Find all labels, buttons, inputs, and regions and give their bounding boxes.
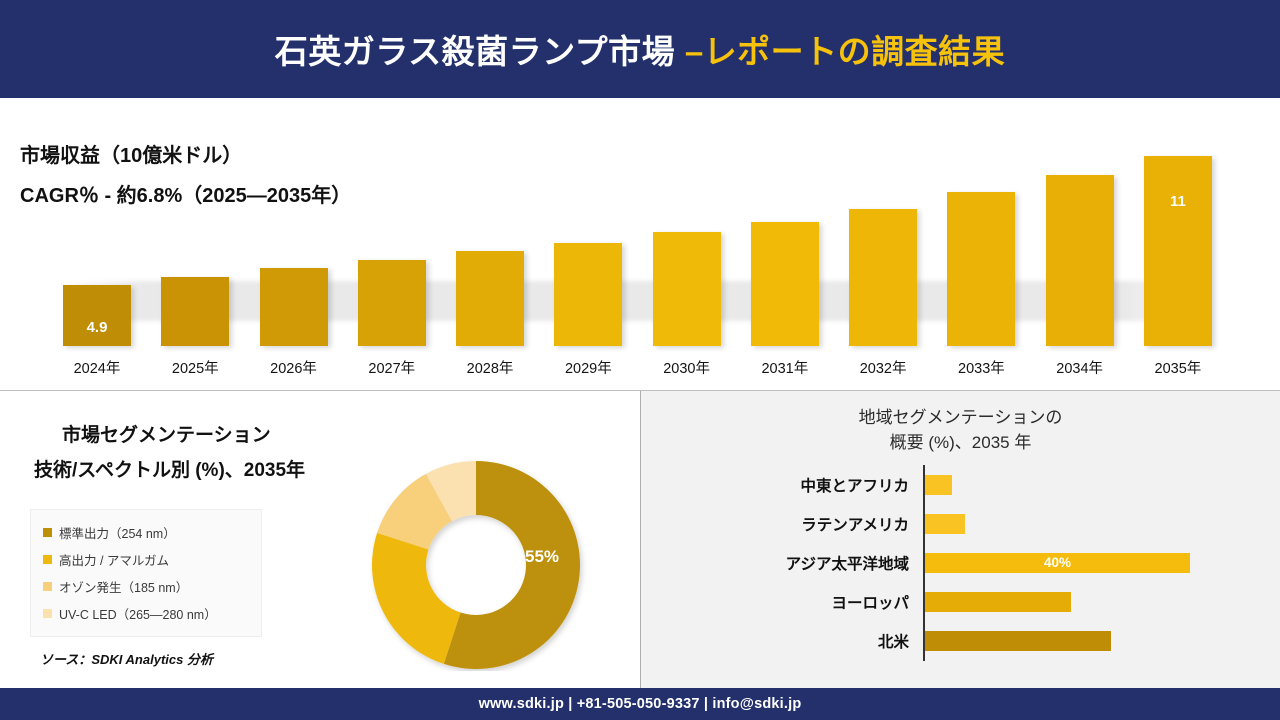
bar-category-label: 2027年 bbox=[368, 357, 415, 378]
legend-swatch bbox=[43, 609, 52, 618]
bar-category-label: 2032年 bbox=[860, 357, 907, 378]
bar-category-label: 2024年 bbox=[74, 357, 121, 378]
bar: 4.9 bbox=[63, 285, 131, 346]
legend-swatch bbox=[43, 528, 52, 537]
regional-panel: 地域セグメンテーションの 概要 (%)、2035 年 中東とアフリカラテンアメリ… bbox=[641, 391, 1280, 688]
bar bbox=[1046, 175, 1114, 346]
bar bbox=[653, 232, 721, 346]
bar-column: 2028年 bbox=[448, 251, 532, 378]
bar-column: 2027年 bbox=[350, 260, 434, 378]
bar-column: 2025年 bbox=[153, 277, 237, 378]
bar-category-label: 2035年 bbox=[1155, 357, 1202, 378]
legend-item: 標準出力（254 nm） bbox=[43, 519, 251, 546]
segmentation-title: 市場セグメンテーション 技術/スペクトル別 (%)、2035年 bbox=[34, 418, 414, 488]
bar-category-label: 2028年 bbox=[467, 357, 514, 378]
regional-bar-wrap: 40% bbox=[925, 553, 1190, 573]
bar bbox=[260, 268, 328, 346]
bar-category-label: 2031年 bbox=[761, 357, 808, 378]
regional-bar bbox=[925, 475, 952, 495]
bar-column: 2031年 bbox=[743, 222, 827, 378]
regional-bar-row: アジア太平洋地域40% bbox=[641, 549, 1280, 577]
infographic-page: 石英ガラス殺菌ランプ市場 –レポートの調査結果 市場収益（10億米ドル） CAG… bbox=[0, 0, 1280, 720]
page-title-main: 石英ガラス殺菌ランプ市場 bbox=[275, 33, 685, 70]
regional-bar-plot: 中東とアフリカラテンアメリカアジア太平洋地域40%ヨーロッパ北米 bbox=[641, 465, 1280, 661]
segmentation-title-line1: 市場セグメンテーション bbox=[34, 418, 414, 453]
legend-item: UV-C LED（265―280 nm） bbox=[43, 600, 251, 627]
segmentation-panel: 市場セグメンテーション 技術/スペクトル別 (%)、2035年 標準出力（254… bbox=[0, 391, 640, 688]
bar: 11 bbox=[1144, 156, 1212, 346]
regional-category-label: 中東とアフリカ bbox=[641, 474, 917, 496]
legend-label: 標準出力（254 nm） bbox=[59, 523, 176, 542]
bar bbox=[751, 222, 819, 346]
bar-category-label: 2030年 bbox=[663, 357, 710, 378]
regional-title-line1: 地域セグメンテーションの bbox=[641, 405, 1280, 430]
page-title-accent: –レポートの調査結果 bbox=[685, 33, 1005, 70]
bar bbox=[161, 277, 229, 346]
legend-label: 高出力 / アマルガム bbox=[59, 550, 169, 569]
page-title: 石英ガラス殺菌ランプ市場 –レポートの調査結果 bbox=[275, 25, 1005, 73]
regional-bar-wrap bbox=[925, 592, 1071, 612]
regional-bar bbox=[925, 514, 965, 534]
bar-column: 112035年 bbox=[1136, 156, 1220, 378]
bar-category-label: 2033年 bbox=[958, 357, 1005, 378]
bar bbox=[358, 260, 426, 346]
segmentation-legend: 標準出力（254 nm）高出力 / アマルガムオゾン発生（185 nm）UV-C… bbox=[30, 509, 262, 637]
regional-bar-row: 北米 bbox=[641, 627, 1280, 655]
regional-bar: 40% bbox=[925, 553, 1190, 573]
legend-label: オゾン発生（185 nm） bbox=[59, 577, 188, 596]
regional-axis-line bbox=[923, 465, 925, 661]
regional-bar-row: ラテンアメリカ bbox=[641, 510, 1280, 538]
bar-value-label: 4.9 bbox=[87, 319, 108, 336]
bar-column: 2033年 bbox=[939, 192, 1023, 378]
legend-item: オゾン発生（185 nm） bbox=[43, 573, 251, 600]
donut-slice bbox=[372, 533, 461, 664]
bar bbox=[554, 243, 622, 346]
revenue-bar-plot: 4.92024年2025年2026年2027年2028年2029年2030年20… bbox=[55, 108, 1220, 378]
bar-value-label: 11 bbox=[1170, 193, 1186, 210]
revenue-chart-section: 市場収益（10億米ドル） CAGR％ - 約6.8%（2025―2035年） 4… bbox=[0, 98, 1280, 390]
regional-category-label: アジア太平洋地域 bbox=[641, 552, 917, 574]
bar bbox=[947, 192, 1015, 346]
bar-column: 2032年 bbox=[841, 209, 925, 378]
regional-bar bbox=[925, 631, 1111, 651]
bar bbox=[456, 251, 524, 346]
bar-category-label: 2026年 bbox=[270, 357, 317, 378]
regional-bar-value-label: 40% bbox=[1044, 555, 1071, 570]
footer-contact: www.sdki.jp | +81-505-050-9337 | info@sd… bbox=[479, 696, 802, 712]
regional-category-label: ラテンアメリカ bbox=[641, 513, 917, 535]
bar-category-label: 2034年 bbox=[1056, 357, 1103, 378]
regional-bar-row: ヨーロッパ bbox=[641, 588, 1280, 616]
header-banner: 石英ガラス殺菌ランプ市場 –レポートの調査結果 bbox=[0, 0, 1280, 98]
segmentation-title-line2: 技術/スペクトル別 (%)、2035年 bbox=[34, 453, 414, 488]
regional-category-label: ヨーロッパ bbox=[641, 591, 917, 613]
regional-category-label: 北米 bbox=[641, 630, 917, 652]
source-note: ソース：SDKI Analytics 分析 bbox=[40, 649, 213, 668]
bar-series: 4.92024年2025年2026年2027年2028年2029年2030年20… bbox=[55, 113, 1220, 378]
regional-title-line2: 概要 (%)、2035 年 bbox=[641, 430, 1280, 455]
bar-category-label: 2025年 bbox=[172, 357, 219, 378]
regional-bar-wrap bbox=[925, 514, 965, 534]
donut-chart: 55% bbox=[370, 459, 590, 671]
regional-bar bbox=[925, 592, 1071, 612]
bar-column: 2030年 bbox=[645, 232, 729, 378]
bar-column: 2034年 bbox=[1038, 175, 1122, 378]
bar-column: 2029年 bbox=[546, 243, 630, 378]
legend-swatch bbox=[43, 555, 52, 564]
donut-center-value: 55% bbox=[525, 547, 559, 567]
regional-bar-row: 中東とアフリカ bbox=[641, 471, 1280, 499]
bar-column: 4.92024年 bbox=[55, 285, 139, 378]
legend-item: 高出力 / アマルガム bbox=[43, 546, 251, 573]
regional-title: 地域セグメンテーションの 概要 (%)、2035 年 bbox=[641, 405, 1280, 455]
bar bbox=[849, 209, 917, 346]
regional-bar-series: 中東とアフリカラテンアメリカアジア太平洋地域40%ヨーロッパ北米 bbox=[641, 465, 1280, 661]
regional-bar-wrap bbox=[925, 475, 952, 495]
footer-banner: www.sdki.jp | +81-505-050-9337 | info@sd… bbox=[0, 688, 1280, 720]
legend-label: UV-C LED（265―280 nm） bbox=[59, 604, 217, 623]
bar-column: 2026年 bbox=[252, 268, 336, 378]
bar-category-label: 2029年 bbox=[565, 357, 612, 378]
regional-bar-wrap bbox=[925, 631, 1111, 651]
legend-swatch bbox=[43, 582, 52, 591]
